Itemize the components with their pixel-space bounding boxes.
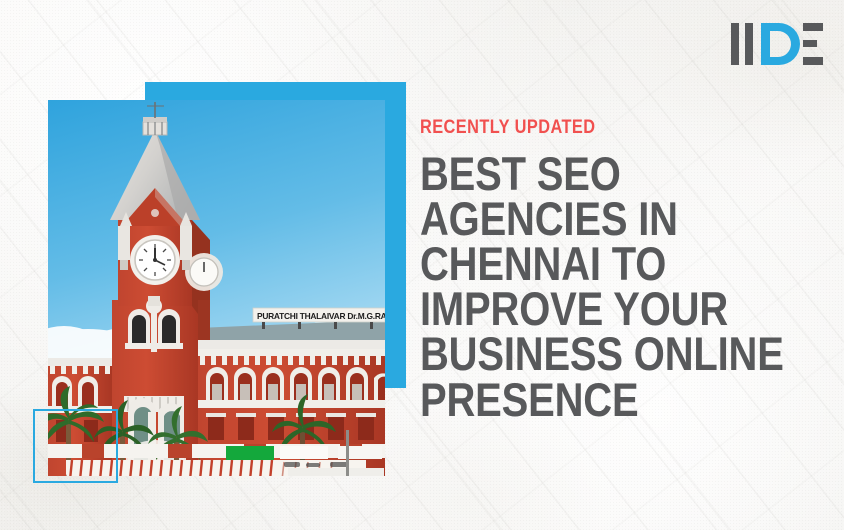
blue-outline-accent-box <box>33 409 118 483</box>
page-title: BEST SEO AGENCIES IN CHENNAI TO IMPROVE … <box>420 151 835 422</box>
green-signboard <box>226 446 274 460</box>
headline-block: RECENTLY UPDATED BEST SEO AGENCIES IN CH… <box>420 118 835 422</box>
svg-text:PURATCHI THALAIVAR Dr.M.G.RA M: PURATCHI THALAIVAR Dr.M.G.RA MACHAND <box>257 311 385 321</box>
kicker-label: RECENTLY UPDATED <box>420 118 777 137</box>
featured-image-canvas: PURATCHI THALAIVAR Dr.M.G.RA MACHAND <box>0 0 844 530</box>
iide-logo-icon <box>731 23 823 65</box>
iide-logo[interactable] <box>731 23 823 65</box>
